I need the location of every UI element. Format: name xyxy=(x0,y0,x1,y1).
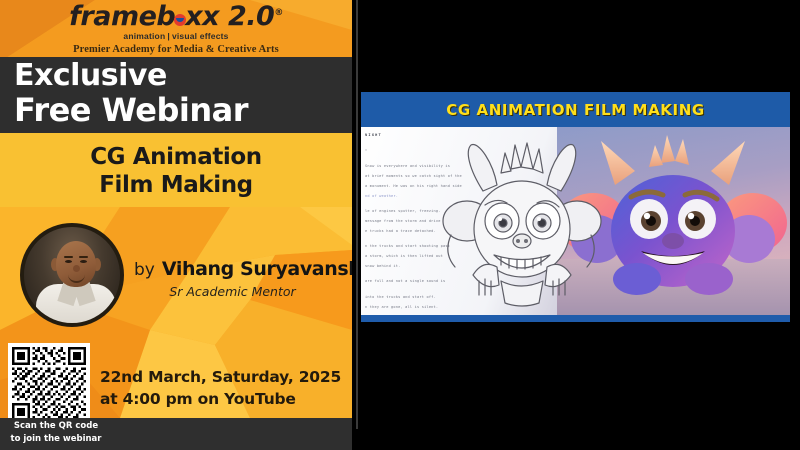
logo-version: 2.0 xyxy=(228,1,274,32)
photo-brow-right xyxy=(79,256,88,258)
script-line-6: le of engines sputter, freezing. xyxy=(365,209,441,213)
sketch-creature-svg xyxy=(439,129,604,315)
topic-line-1: CG Animation xyxy=(0,144,352,171)
script-line-0: NIGHT xyxy=(365,133,382,137)
logo-subtitle-right: visual effects xyxy=(172,31,229,41)
brand-logo-band: framebxx 2.0® animation|visual effects P… xyxy=(0,0,352,57)
script-line-7: message from the storm and drive xyxy=(365,219,441,223)
script-line-13: into the trucks and start off. xyxy=(365,295,436,299)
topic-line-2: Film Making xyxy=(0,172,352,199)
brand-tagline: Premier Academy for Media & Creative Art… xyxy=(0,44,352,55)
qr-caption: Scan the QR code to join the webinar xyxy=(6,420,106,446)
script-line-9: n the trucks and start shooting past xyxy=(365,244,450,248)
script-line-5: nd of weather. xyxy=(365,194,398,198)
script-line-14: n they are gone, all is silent. xyxy=(365,305,438,309)
qr-caption-line-1: Scan the QR code xyxy=(6,420,106,433)
slide-title-text: CG ANIMATION FILM MAKING xyxy=(446,101,705,119)
photo-brow-left xyxy=(64,256,73,258)
registered-mark-icon: ® xyxy=(274,8,283,18)
headline-line-1: Exclusive xyxy=(14,60,167,92)
speaker-name-row: byVihang Suryavanshi xyxy=(134,258,349,280)
logo-text-frameb: frameb xyxy=(69,1,175,32)
speaker-by-label: by xyxy=(134,260,155,280)
logo-subtitle-left: animation xyxy=(123,31,165,41)
screenshare-panel: CG ANIMATION FILM MAKING NIGHT ” Snow is… xyxy=(354,0,800,450)
qr-caption-strip: Scan the QR code to join the webinar xyxy=(0,418,352,450)
letterbox-area xyxy=(361,322,790,429)
speaker-byline: byVihang Suryavanshi Sr Academic Mentor xyxy=(134,258,349,299)
photo-eye-right xyxy=(80,260,87,263)
sketch-creature-artwork xyxy=(439,129,604,315)
speaker-photo xyxy=(24,227,120,323)
logo-subtitle-separator: | xyxy=(167,31,170,41)
topic-band: CG Animation Film Making xyxy=(0,133,352,207)
logo-text-xx: xx xyxy=(185,1,219,32)
headline-band: Exclusive Free Webinar xyxy=(0,57,352,133)
photo-eye-left xyxy=(65,260,72,263)
schedule-line-1: 22nd March, Saturday, 2025 xyxy=(100,366,350,388)
script-line-1: ” xyxy=(365,149,367,153)
speaker-name: Vihang Suryavanshi xyxy=(162,258,352,280)
script-line-10: a storm, which is then lifted out xyxy=(365,254,443,258)
schedule-line-2: at 4:00 pm on YouTube xyxy=(100,388,350,410)
script-line-8: e trucks had a trace detached. xyxy=(365,229,436,233)
slide-body: NIGHT ” Snow is everywhere and visibilit… xyxy=(361,127,790,315)
photo-nose xyxy=(73,265,80,272)
left-promo-panel: framebxx 2.0® animation|visual effects P… xyxy=(0,0,352,450)
speaker-avatar xyxy=(20,223,124,327)
qr-code-matrix xyxy=(12,347,86,421)
poster-stage: framebxx 2.0® animation|visual effects P… xyxy=(0,0,800,450)
brand-logo-wordmark: framebxx 2.0® xyxy=(0,3,352,30)
headline-line-2: Free Webinar xyxy=(14,93,248,128)
speaker-role: Sr Academic Mentor xyxy=(134,284,349,299)
qr-code[interactable] xyxy=(8,343,90,425)
brand-logo-subtitle: animation|visual effects xyxy=(0,31,352,41)
script-line-11: snow behind it. xyxy=(365,264,400,268)
script-line-12: are full and not a single sound is xyxy=(365,279,445,283)
presentation-slide: CG ANIMATION FILM MAKING NIGHT ” Snow is… xyxy=(361,92,790,322)
qr-caption-line-2: to join the webinar xyxy=(6,433,106,446)
script-line-2: Snow is everywhere and visibility is xyxy=(365,164,450,168)
slide-title-bar: CG ANIMATION FILM MAKING xyxy=(361,92,790,127)
schedule-block: 22nd March, Saturday, 2025 at 4:00 pm on… xyxy=(100,366,350,410)
slide-footer-bar xyxy=(361,315,790,322)
shared-screen-frame: CG ANIMATION FILM MAKING NIGHT ” Snow is… xyxy=(356,0,788,429)
